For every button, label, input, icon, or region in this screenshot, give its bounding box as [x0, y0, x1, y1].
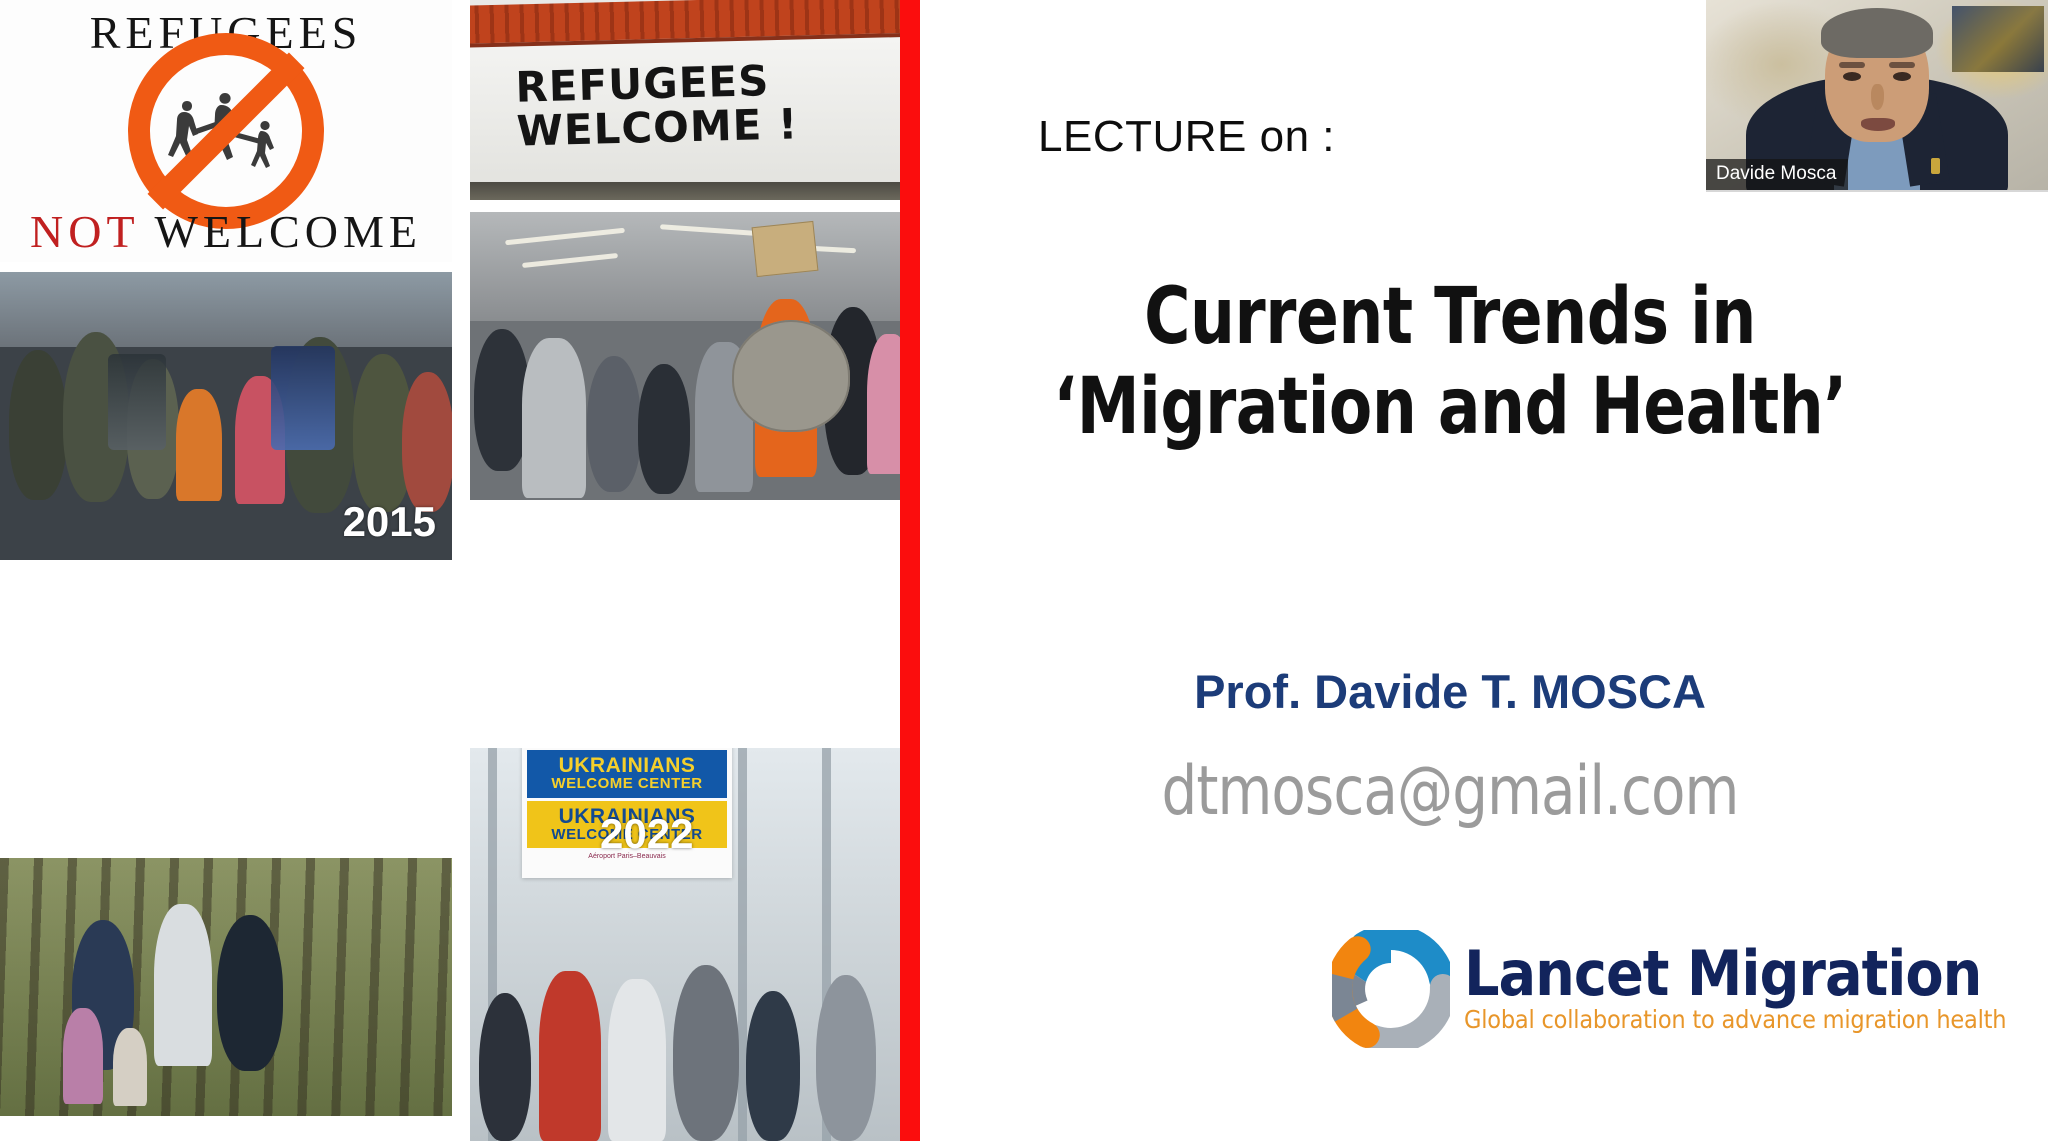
welcome-sign-blue-headline: UKRAINIANS: [529, 755, 725, 776]
poster-caption-not: NOT: [30, 206, 139, 257]
photo-refugees-not-welcome-poster: REFUGEES: [0, 0, 452, 262]
photo-refugees-welcome-graffiti: REFUGEES WELCOME !: [470, 0, 902, 200]
presenter-name: Prof. Davide T. MOSCA: [940, 664, 1960, 719]
lancet-migration-wordmark: Lancet Migration Global collaboration to…: [1464, 944, 2006, 1035]
title-line-1: Current Trends in: [991, 272, 1909, 362]
graffiti-text: REFUGEES WELCOME !: [515, 58, 799, 154]
photo-riot-police-refugee-crowd-2015: 2015: [0, 272, 452, 560]
presentation-slide: REFUGEES: [0, 0, 2048, 1141]
speaker-video-tile[interactable]: Davide Mosca: [1706, 0, 2048, 192]
speaker-mouth: [1861, 118, 1895, 131]
photo-year-label-2022: 2022: [600, 810, 693, 858]
page-title: Current Trends in ‘Migration and Health’: [940, 272, 1960, 453]
speaker-hair: [1821, 8, 1933, 58]
speaker-eye-right: [1893, 72, 1911, 81]
photo-sky-region: [0, 272, 452, 347]
heart-shaped-placard: [732, 320, 850, 432]
participant-name-label: Davide Mosca: [1716, 163, 1836, 184]
logo-name: Lancet Migration: [1464, 944, 2006, 1004]
graffiti-ground: [470, 182, 902, 200]
photo-station-crowd-placards: [470, 212, 902, 500]
lancet-migration-rings-icon: [1332, 930, 1450, 1048]
participant-name-plate: Davide Mosca: [1706, 159, 1848, 190]
logo-tagline: Global collaboration to advance migratio…: [1464, 1005, 2006, 1034]
speaker-eyebrow-right: [1889, 62, 1915, 68]
presenter-email[interactable]: dtmosca@gmail.com: [981, 752, 1919, 831]
poster-caption-bottom: NOT WELCOME: [0, 205, 452, 258]
lancet-migration-logo: Lancet Migration Global collaboration to…: [1332, 930, 2006, 1048]
photo-forest-border-pushback: [0, 858, 452, 1116]
prohibition-sign-icon: [128, 33, 324, 229]
speaker-nose: [1871, 84, 1884, 110]
speaker-eye-left: [1843, 72, 1861, 81]
title-line-2: ‘Migration and Health’: [991, 362, 1909, 452]
photo-ukrainians-welcome-center: UKRAINIANS WELCOME CENTER UKRAINIANS WEL…: [470, 748, 902, 1141]
speaker-eyebrow-left: [1839, 62, 1865, 68]
collage-left-column: REFUGEES: [0, 0, 452, 849]
photo-year-label-2015: 2015: [343, 498, 436, 546]
welcome-sign-blue: UKRAINIANS WELCOME CENTER: [527, 750, 727, 798]
collage-right-column: REFUGEES WELCOME !: [470, 0, 902, 516]
poster-caption-welcome: WELCOME: [154, 206, 422, 257]
speaker-lapel-pin: [1931, 158, 1940, 174]
graffiti-line-2: WELCOME !: [516, 102, 799, 153]
background-picture-frame: [1952, 6, 2044, 72]
photo-collage: REFUGEES: [0, 0, 922, 1141]
welcome-sign-blue-subline: WELCOME CENTER: [529, 776, 725, 791]
protest-placard: [752, 221, 819, 277]
lecture-label: LECTURE on :: [1038, 112, 1335, 162]
red-vertical-bar: [900, 0, 920, 1141]
